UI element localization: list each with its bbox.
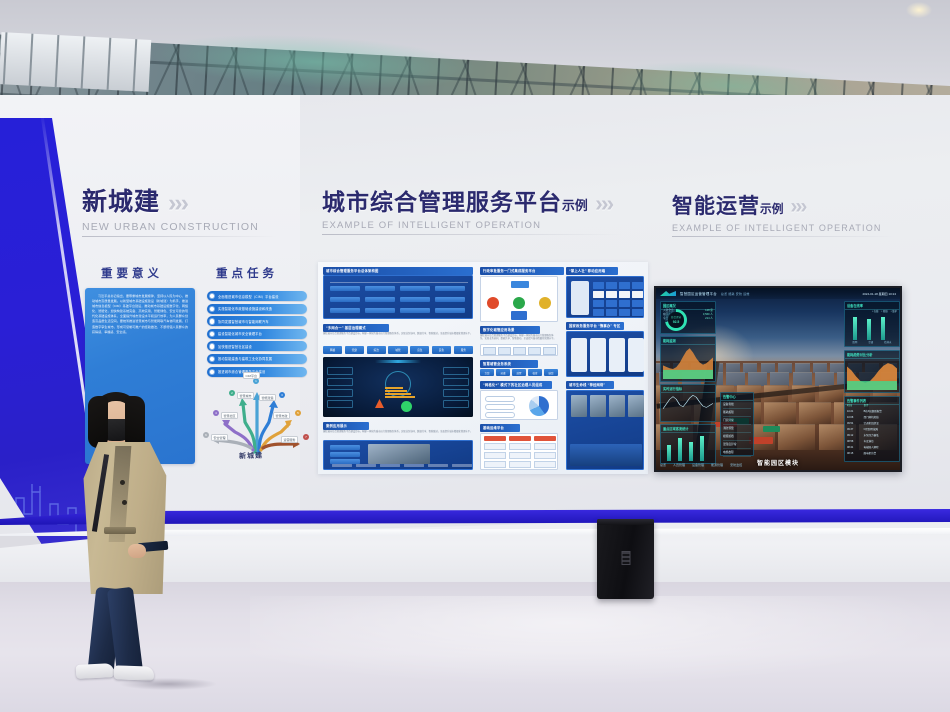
- alarm-item-7: 电梯故障: [723, 449, 751, 457]
- flow-chip-5: 结案: [544, 369, 558, 376]
- arch-node: [330, 308, 360, 313]
- hair-right: [125, 396, 145, 450]
- branch-label-7: 运营服务: [281, 436, 298, 443]
- key-task-label: 协同发展智慧城市与智能网联汽车: [218, 319, 269, 324]
- case-thumb-4: [404, 464, 424, 467]
- mobile-hr-cell-1-2: [619, 291, 630, 298]
- yushiban-device-1: [571, 338, 587, 372]
- window-mullion: [81, 36, 86, 88]
- panel-body: [847, 358, 897, 390]
- poster-block-title-digital-city-mgmt: 数字化城管应用场景: [480, 326, 540, 334]
- chevron-right-icon: ›››: [168, 189, 187, 218]
- ops-header-3: [534, 436, 556, 441]
- yushiban-panel: [566, 331, 644, 377]
- mobile-hr-cell-1-3: [632, 291, 643, 298]
- key-task-pill-2: 实施智能化市政基础设施建设和改造: [207, 304, 307, 314]
- key-task-label: 推动智能建造与建筑工业化协同发展: [218, 356, 272, 361]
- dashboard-left-card-2: [327, 378, 353, 386]
- poster-block-title-grid-plus: “网格化+” 模式下的社区治理人员组成: [480, 381, 552, 389]
- branch-label-6: 安全管理: [211, 434, 228, 441]
- heading-3-rule: [672, 236, 894, 237]
- screen-right-panel-3: 告警事件列表时间事件10:21B栋3层烟感报警10:08西门闸机离线09:54空…: [844, 396, 900, 462]
- heading-3-cn: 智能运营: [672, 195, 760, 218]
- hair-left: [88, 396, 108, 448]
- person-shadow: [120, 678, 216, 690]
- ops-cell-1-3: [484, 461, 506, 468]
- chevron-right-icon: ›››: [595, 190, 612, 217]
- screen-right-panel-2: 能耗趋势对比分析: [844, 350, 900, 393]
- speaker-grill-icon: [621, 551, 630, 565]
- bar-chart: [847, 313, 897, 340]
- mobile-hr-cell-2-2: [619, 300, 630, 307]
- center-poster-board: 城市综合管理服务平台总体架构图“多网合一” 基层治理模式围绕城市综合管理服务平台…: [318, 262, 648, 474]
- shoe-left: [76, 663, 115, 679]
- arch-node: [365, 286, 395, 291]
- footer-nav-item-4[interactable]: 能源管理: [711, 463, 723, 467]
- arch-node: [435, 297, 465, 302]
- mobile-hr-cell-1-0: [593, 291, 604, 298]
- poster-block-title-yushiban: 国家政务服务平台 “豫事办” 专区: [566, 322, 624, 330]
- bar-1: [667, 445, 671, 461]
- ops-cell-1-2: [484, 452, 506, 459]
- window-mullion: [133, 39, 138, 91]
- mobile-hr-cell-3-2: [619, 309, 630, 316]
- alarm-item-2: 能耗超限: [723, 409, 751, 417]
- flow-node-top: [511, 281, 529, 288]
- bullet-dot-icon: [210, 357, 214, 361]
- building: [793, 372, 812, 386]
- poster-body-digital-city-mgmt: 围绕城市综合管理服务平台建设目标，构建一体化的城市运行管理服务体系，实现业务协同…: [480, 335, 558, 341]
- platform-logo-icon: [660, 291, 676, 296]
- donut-icon: [529, 396, 549, 416]
- significance-body-text: 习近平总书记指出，要尊重城市发展规律，坚持以人民为中心，推动城市高质量发展。以新…: [92, 294, 188, 335]
- dashboard-bar-2: [385, 390, 407, 392]
- bullet-dot-icon: [210, 319, 214, 323]
- tag-chip-7: 服务: [454, 346, 473, 354]
- case-photo: [368, 444, 430, 464]
- ceiling-lamp-icon: [906, 2, 932, 18]
- lifeline-thumb-2: [590, 395, 606, 417]
- panel-body: • 在线• 离线• 维护照明空调给排水: [847, 309, 897, 344]
- mobile-hr-cell-2-1: [606, 300, 617, 307]
- table-cell: 08:15: [847, 451, 864, 457]
- arch-rule: [330, 282, 468, 283]
- key-task-label: 建设智能化城市安全管理平台: [218, 331, 262, 336]
- yushiban-device-4: [628, 338, 644, 372]
- donut-legend-3: [485, 412, 515, 418]
- hand: [128, 544, 146, 558]
- dashboard-right-card-1: [443, 367, 469, 375]
- case-thumb-6: [452, 464, 472, 467]
- branch-label-5: 智慧市政: [273, 412, 290, 419]
- section-title-significance: 重要意义: [101, 265, 163, 281]
- series-chart: [663, 392, 713, 419]
- poster-block-title-lifeline: 城市生命线 “神经网络”: [566, 381, 614, 389]
- heading-new-urban-construction: 新城建 ››› NEW URBAN CONSTRUCTION: [82, 182, 277, 237]
- gauge-donut: 综合评分92.5: [665, 309, 687, 331]
- green-roof-2: [763, 426, 780, 431]
- series-chart: [663, 344, 713, 379]
- key-task-pill-1: 全面推进城市信息模型（CIM）平台建设: [207, 291, 307, 301]
- building: [815, 372, 834, 386]
- lifeline-street-scene: [570, 444, 642, 466]
- new-urban-construction-arrow-graphic: 1 CIM平台 2 智慧城市 3 智能建造 4 智慧社区 5 智慧市政 6 安全…: [203, 378, 311, 460]
- bar-chart: [663, 432, 713, 461]
- key-task-label: 加快推进智慧社区建设: [218, 344, 252, 349]
- key-task-pill-5: 加快推进智慧社区建设: [207, 341, 307, 351]
- tag-chip-1: 网格: [323, 346, 342, 354]
- heading-2-rule: [322, 234, 622, 235]
- architecture-diagram: [323, 275, 473, 319]
- flow-chip-2: 派遣: [496, 369, 510, 376]
- dashboard-left-card-4: [327, 400, 353, 408]
- flow-actor-mid-icon: [513, 297, 525, 309]
- mobile-hr-panel: [566, 276, 644, 318]
- panel-body: [663, 344, 713, 379]
- dashboard-bar-1: [385, 387, 403, 389]
- screen-panel-3: 实时运行指标: [660, 384, 716, 422]
- window-mullion: [55, 35, 60, 87]
- flow-chip-4: 核查: [528, 369, 542, 376]
- mobile-hr-cell-1-1: [606, 291, 617, 298]
- floor-reflection: [250, 596, 950, 686]
- x-tick-1: 照明: [853, 340, 858, 344]
- alarm-item-6: 温湿度异常: [723, 441, 751, 449]
- coat-button-1: [120, 480, 125, 485]
- mobile-hr-cell-2-3: [632, 300, 643, 307]
- dashboard-right-card-4: [443, 400, 469, 408]
- arch-node: [330, 286, 360, 291]
- case-thumb-5: [428, 464, 448, 467]
- flow-actor-right-icon: [539, 297, 551, 309]
- bar-2: [678, 438, 682, 461]
- community-donut-chart: [480, 390, 558, 420]
- platform-title: 智慧园区运营管理平台: [680, 291, 717, 296]
- panel-body: 入驻企业128 家在园人数3,560 人今日访客214 人综合评分92.5: [663, 309, 713, 331]
- arch-node: [400, 297, 430, 302]
- building: [799, 402, 831, 425]
- branch-label-2: 智慧城市: [237, 392, 254, 399]
- scenario-cell-5: [543, 347, 556, 355]
- arrow-branches-icon: [203, 378, 311, 460]
- alarm-item-3: 门禁异常: [723, 417, 751, 425]
- donut-legend-2: [485, 404, 515, 410]
- dashboard-left-card-3: [327, 389, 353, 397]
- panel-body: 时间事件10:21B栋3层烟感报警10:08西门闸机离线09:54空调机组超温0…: [847, 404, 897, 459]
- poster-block-title-grid-governance: “多网合一” 基层治理模式: [323, 324, 389, 332]
- building: [726, 372, 745, 386]
- screen-nav[interactable]: 总览 能耗 安防 运维: [721, 292, 750, 296]
- case-side-chip-1: [330, 445, 360, 450]
- dashboard-bar-4: [385, 396, 415, 398]
- case-thumb-2: [356, 464, 376, 467]
- bar-3: [689, 442, 693, 461]
- ceiling-window: [0, 32, 151, 92]
- donut-legend-1: [485, 396, 515, 402]
- scenario-cell-3: [513, 347, 526, 355]
- ops-cell-1-1: [484, 443, 506, 450]
- screen-panel-2: 能耗监测: [660, 336, 716, 382]
- mobile-hr-cell-3-3: [632, 309, 643, 316]
- dashboard-bar-3: [385, 393, 411, 395]
- mobile-hr-cell-3-0: [593, 309, 604, 316]
- ops-cell-3-3: [534, 461, 556, 468]
- alarm-item-1: 设备离线: [723, 401, 751, 409]
- gauge-label: 综合评分92.5: [665, 309, 687, 331]
- x-tick-2: 空调: [868, 340, 873, 344]
- ops-cell-3-1: [534, 443, 556, 450]
- arch-node: [435, 308, 465, 313]
- building: [764, 402, 796, 425]
- heading-intelligent-operation: 智能运营示例 ››› EXAMPLE OF INTELLIGENT OPERAT…: [672, 190, 894, 237]
- branch-node-6: 6: [203, 432, 209, 438]
- tag-chip-4: 城管: [388, 346, 407, 354]
- arch-node: [365, 308, 395, 313]
- gauge-value: 92.5: [673, 320, 680, 324]
- alarm-list: 设备离线能耗超限门禁异常消防预警视频遮挡温湿度异常电梯故障: [723, 401, 751, 457]
- heading-1-en: NEW URBAN CONSTRUCTION: [82, 221, 277, 233]
- mobile-hr-cell-0-3: [632, 282, 643, 289]
- alarm-item-4: 消防预警: [723, 425, 751, 433]
- ops-header-2: [509, 436, 531, 441]
- panel-body: [663, 392, 713, 419]
- tag-chip-2: 党建: [345, 346, 364, 354]
- exhibition-scene: 新城建 ››› NEW URBAN CONSTRUCTION 城市综合管理服务平…: [0, 0, 950, 712]
- heading-2-cn-suffix: 示例: [562, 198, 588, 213]
- heading-1-rule: [82, 236, 277, 237]
- scenario-cell-4: [528, 347, 541, 355]
- x-axis: 照明空调给排水: [847, 340, 897, 344]
- bar-4: [700, 436, 704, 461]
- building: [778, 424, 815, 450]
- case-media-panel: [323, 440, 473, 470]
- mobile-hr-cell-3-1: [606, 309, 617, 316]
- scenario-table: [480, 344, 558, 356]
- flow-node-bottom: [511, 311, 527, 320]
- flow-actor-left-icon: [487, 297, 499, 309]
- branch-label-1: CIM平台: [243, 372, 260, 379]
- case-side-chip-2: [330, 452, 360, 457]
- poster-body-case-demo: 围绕城市综合管理服务平台建设目标，构建一体化的城市运行管理服务体系，实现业务协同…: [323, 431, 473, 434]
- speaker-cabinet: [597, 519, 654, 599]
- mobile-device-1: [571, 281, 589, 315]
- mobile-hr-cell-0-2: [619, 282, 630, 289]
- bullet-dot-icon: [210, 332, 214, 336]
- chip-row: 立案派遣处置核查结案: [480, 369, 558, 376]
- bullet-dot-icon: [210, 307, 214, 311]
- bullet-dot-icon: [210, 344, 214, 348]
- visitor-person: [68, 392, 186, 692]
- coat-button-2: [122, 500, 127, 505]
- command-center-dashboard: [323, 357, 473, 417]
- window-mullion: [3, 32, 8, 84]
- footer-nav-item-2[interactable]: 人员管理: [673, 463, 685, 467]
- poster-block-title-one-stop: 行政审批服务一门式集成服务平台: [480, 267, 564, 275]
- speaker-top: [597, 519, 654, 525]
- screen-right-panel-1: 设备在线率• 在线• 离线• 维护照明空调给排水: [844, 301, 900, 347]
- lifeline-scene-panel: [566, 390, 644, 470]
- bar-2: [867, 319, 871, 340]
- window-mullion: [29, 34, 34, 86]
- heading-2-cn: 城市综合管理服务平台: [322, 189, 562, 215]
- yushiban-device-3: [609, 338, 625, 372]
- tag-chip-5: 应急: [410, 346, 429, 354]
- poster-block-title-mobile-hr: “掌上人社” 移动应用端: [566, 267, 618, 275]
- flow-chip-3: 处置: [512, 369, 526, 376]
- tag-chip-6: 民生: [432, 346, 451, 354]
- screen-panel-4: 重点区域客流统计: [660, 424, 716, 464]
- heading-2-en: EXAMPLE OF INTELLIGENT OPERATION: [322, 220, 622, 231]
- panel-body: [663, 432, 713, 461]
- mobile-hr-cell-0-1: [606, 282, 617, 289]
- x-tick-3: 给排水: [884, 340, 891, 344]
- alarm-item-5: 视频遮挡: [723, 433, 751, 441]
- alarm-center-title: 告警中心: [721, 393, 753, 401]
- heading-3-en: EXAMPLE OF INTELLIGENT OPERATION: [672, 223, 894, 233]
- screen-caption: 智能园区模块: [757, 458, 799, 467]
- ops-header-1: [484, 436, 506, 441]
- table-cell: 配电柜告警: [864, 451, 897, 457]
- case-thumb-1: [332, 464, 352, 467]
- heading-1-cn-wrap: 新城建 ›››: [82, 182, 277, 218]
- scenario-cell-2: [498, 347, 511, 355]
- mobile-hr-cell-2-0: [593, 300, 604, 307]
- bullet-dot-icon: [210, 294, 214, 298]
- dashboard-right-card-2: [443, 378, 469, 386]
- case-thumb-3: [380, 464, 400, 467]
- branch-node-3: 3: [279, 392, 285, 398]
- heading-3-cn-wrap: 智能运营示例 ›››: [672, 190, 894, 220]
- arch-node: [435, 286, 465, 291]
- heading-2-cn-wrap: 城市综合管理服务平台示例 ›››: [322, 183, 622, 217]
- poster-block-title-smart-city-mgmt: 智慧城管业务系统: [480, 360, 538, 368]
- dashboard-alert-icon: [375, 399, 384, 408]
- branch-node-5: 5: [295, 410, 301, 416]
- tag-row: 网格党建综治城管应急民生服务: [323, 346, 473, 354]
- bar-1: [853, 317, 857, 339]
- branch-node-4: 4: [213, 410, 219, 416]
- dashboard-title-bar: [375, 360, 421, 363]
- arrow-graphic-base-label: 新城建: [239, 451, 263, 462]
- chevron-right-icon: ›››: [790, 195, 805, 219]
- arch-node: [400, 308, 430, 313]
- dashboard-right-card-3: [443, 389, 469, 397]
- arch-node: [330, 297, 360, 302]
- heading-3-cn-suffix: 示例: [760, 203, 784, 216]
- poster-block-title-architecture: 城市综合管理服务平台总体架构图: [323, 267, 473, 275]
- branch-node-7: 7: [303, 434, 309, 440]
- ops-platform-panels: [480, 433, 558, 470]
- metric-value: 214 人: [705, 317, 713, 321]
- ops-cell-2-1: [509, 443, 531, 450]
- ops-cell-2-2: [509, 452, 531, 459]
- one-stop-flow-diagram: [480, 276, 558, 322]
- area-chart: [847, 358, 897, 390]
- bullet-dot-icon: [210, 370, 214, 374]
- coat-belt: [104, 527, 136, 534]
- screen-footer-nav[interactable]: 总览人员管理设备管理能源管理安防监控: [660, 463, 742, 467]
- key-task-pill-4: 建设智能化城市安全管理平台: [207, 329, 307, 339]
- footer-nav-item-3[interactable]: 设备管理: [692, 463, 704, 467]
- screen-clock: 2024-01-18 星期四 10:24: [862, 292, 896, 296]
- building: [770, 372, 789, 386]
- dashboard-left-card-1: [327, 367, 353, 375]
- key-tasks-list: 全面推进城市信息模型（CIM）平台建设实施智能化市政基础设施建设和改造协同发展智…: [207, 291, 307, 379]
- flow-chip-1: 立案: [480, 369, 494, 376]
- ops-cell-3-2: [534, 452, 556, 459]
- key-task-pill-6: 推动智能建造与建筑工业化协同发展: [207, 354, 307, 364]
- arch-node: [365, 297, 395, 302]
- tag-chip-3: 综治: [367, 346, 386, 354]
- branch-node-2: 2: [229, 390, 235, 396]
- branch-label-4: 智慧社区: [221, 412, 238, 419]
- heading-1-cn: 新城建: [82, 188, 160, 216]
- window-mullion: [107, 38, 112, 90]
- lifeline-thumb-1: [571, 395, 587, 417]
- screen-panel-1: 园区概况入驻企业128 家在园人数3,560 人今日访客214 人综合评分92.…: [660, 301, 716, 334]
- arch-node: [400, 286, 430, 291]
- dashboard-status-dot: [401, 401, 412, 412]
- key-task-label: 实施智能化市政基础设施建设和改造: [218, 306, 272, 311]
- poster-block-title-ops-platform: 基础运维平台: [480, 424, 520, 432]
- screen-topbar: 智慧园区运营管理平台 总览 能耗 安防 运维 2024-01-18 星期四 10…: [656, 288, 900, 299]
- yushiban-device-2: [590, 338, 606, 372]
- led-display-screen[interactable]: 智慧园区运营管理平台 总览 能耗 安防 运维 2024-01-18 星期四 10…: [654, 286, 902, 472]
- lifeline-thumb-4: [628, 395, 644, 417]
- poster-body-grid-governance: 围绕城市综合管理服务平台建设目标，构建一体化的城市运行管理服务体系，实现业务协同…: [323, 333, 473, 336]
- scenario-cell-1: [483, 347, 496, 355]
- heading-city-management-platform: 城市综合管理服务平台示例 ››› EXAMPLE OF INTELLIGENT …: [322, 183, 622, 235]
- alarm-center-panel: 告警中心设备离线能耗超限门禁异常消防预警视频遮挡温湿度异常电梯故障: [720, 392, 754, 456]
- poster-block-title-case-demo: 案例应用展示: [323, 422, 369, 430]
- section-title-key-tasks: 重点任务: [216, 265, 278, 281]
- footer-nav-item-5[interactable]: 安防监控: [730, 463, 742, 467]
- key-task-pill-3: 协同发展智慧城市与智能网联汽车: [207, 316, 307, 326]
- ops-cell-2-3: [509, 461, 531, 468]
- case-side-chip-3: [330, 459, 360, 464]
- bar-3: [881, 317, 885, 340]
- table-row: 08:15配电柜告警: [847, 451, 897, 457]
- mobile-hr-cell-0-0: [593, 282, 604, 289]
- footer-nav-item-1[interactable]: 总览: [660, 463, 666, 467]
- branch-label-3: 智能建造: [259, 394, 276, 401]
- key-task-label: 全面推进城市信息模型（CIM）平台建设: [218, 294, 279, 299]
- building: [748, 372, 767, 386]
- lifeline-thumb-3: [609, 395, 625, 417]
